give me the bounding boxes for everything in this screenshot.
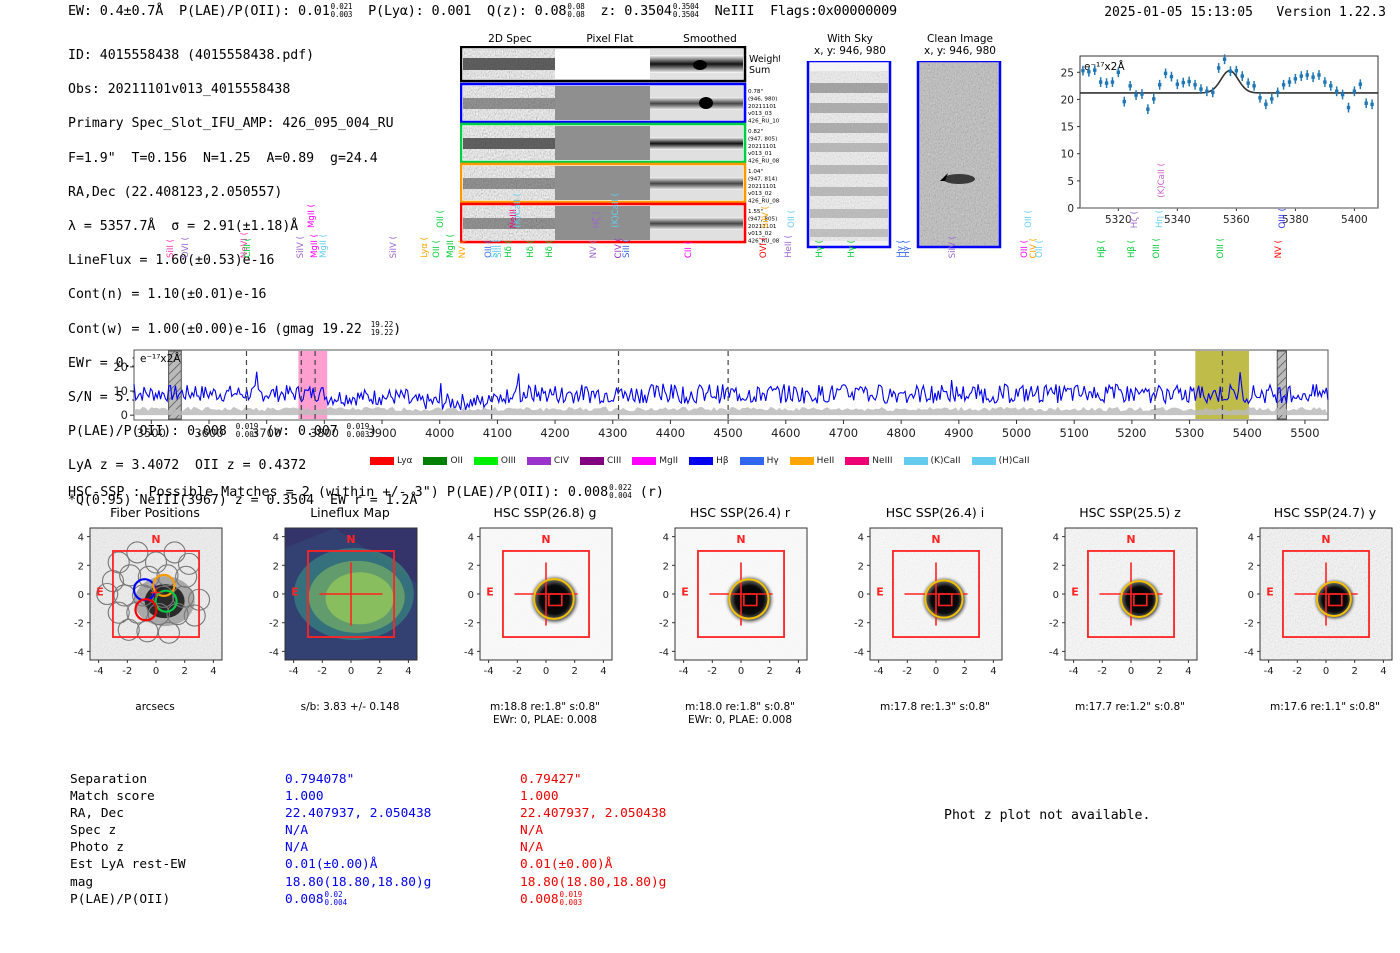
- header-z-frac: 0.35040.3504: [673, 3, 699, 19]
- spec2d-col-title-pixelflat: Pixel Flat: [560, 33, 660, 45]
- zoomspec-xtick: 5320: [1105, 214, 1132, 226]
- compass-east-label: E: [1071, 585, 1079, 598]
- emission-line-label: Hγ (: [815, 240, 825, 258]
- legend-entry: Hβ: [689, 456, 729, 466]
- match-table-cell: 0.794078": [285, 771, 520, 788]
- thumbnail-ytick: -4: [1049, 647, 1059, 658]
- header-flags: Flags:0x00000009: [770, 3, 897, 19]
- spectrum-xtick: 4200: [540, 426, 569, 440]
- thumbnail-xtick: 4: [405, 666, 411, 677]
- thumbnail-ytick: 4: [1248, 533, 1254, 544]
- thumbnail-image[interactable]: NE-4-4-2-2002244: [60, 522, 250, 697]
- header-line-id: NeIII: [715, 3, 755, 19]
- thumbnail-panel[interactable]: HSC SSP(25.5) zNE-4-4-2-2002244m:17.7 re…: [1035, 505, 1225, 720]
- thumbnail-xtick: 2: [1157, 666, 1163, 677]
- compass-north-label: N: [1126, 533, 1135, 546]
- thumbnail-xtick: 4: [210, 666, 216, 677]
- match-table-cell: N/A: [520, 822, 755, 839]
- thumbnail-ytick: 0: [858, 590, 864, 601]
- header-timestamp-version: 2025-01-05 15:13:05 Version 1.22.3: [1104, 5, 1386, 20]
- thumbnail-ytick: 2: [468, 561, 474, 572]
- match-table-row-label: mag: [70, 874, 285, 891]
- thumbnail-image[interactable]: NE-4-4-2-2002244: [1035, 522, 1225, 697]
- thumbnail-xtick: 0: [1128, 666, 1134, 677]
- emission-line-label: CIII (: [243, 238, 253, 258]
- match-table-plae-frac: 0.0190.003: [560, 891, 583, 907]
- compass-east-label: E: [96, 585, 104, 598]
- thumbnail-xtick: -4: [679, 666, 689, 677]
- thumbnail-caption-primary: m:17.7 re:1.2" s:0.8": [1035, 701, 1225, 713]
- emission-line-label: OII (: [1024, 210, 1034, 228]
- emission-line-label: OII (: [432, 240, 442, 258]
- emission-line-label: OVI (: [181, 237, 191, 258]
- emission-line-label: MgII (: [319, 234, 329, 258]
- spec2d-row-right-label: 0.78": [748, 89, 763, 95]
- legend-label: Lyα: [397, 456, 412, 466]
- spec2d-row-right-label: v013_02: [748, 191, 772, 197]
- legend-swatch: [580, 457, 604, 465]
- emission-line-label: Hγ (: [902, 240, 912, 258]
- table-row: P(LAE)/P(OII)0.0080.020.0040.0080.0190.0…: [70, 891, 755, 908]
- thumbnail-ytick: 0: [273, 590, 279, 601]
- thumbnail-xtick: 2: [182, 666, 188, 677]
- match-table-cell: 1.000: [285, 788, 520, 805]
- emission-line-label: (K)CaII (: [611, 193, 621, 228]
- spectrum-xtick: 4800: [887, 426, 916, 440]
- clean-image-title: Clean Image: [910, 33, 1010, 45]
- spec2d-row-right-label: (947, 814): [748, 176, 777, 182]
- header-plya-value: 0.001: [432, 3, 472, 19]
- header-timestamp: 2025-01-05 15:13:05: [1104, 5, 1253, 20]
- compass-north-label: N: [1321, 533, 1330, 546]
- emission-line-label: NV (: [458, 240, 468, 258]
- thumbnail-ytick: 0: [1053, 590, 1059, 601]
- emission-line-label: SiIV (: [296, 236, 306, 258]
- thumbnail-xtick: -4: [874, 666, 884, 677]
- legend-entry: HeII: [790, 456, 835, 466]
- match-table-cell: 1.000: [520, 788, 755, 805]
- thumbnail-ytick: -4: [74, 647, 84, 658]
- thumbnail-xtick: 2: [962, 666, 968, 677]
- legend-swatch: [689, 457, 713, 465]
- match-table-cell: N/A: [520, 839, 755, 856]
- thumbnail-caption-primary: m:18.0 re:1.8" s:0.8": [645, 701, 835, 713]
- header-summary-line: EW: 0.4±0.7Å P(LAE)/P(OII): 0.010.0210.0…: [68, 3, 897, 19]
- match-table-cell: 18.80(18.80,18.80)g: [285, 874, 520, 891]
- legend-label: (K)CaII: [931, 456, 961, 466]
- emission-line-label: Hδ (: [545, 240, 555, 258]
- thumbnail-title: HSC SSP(26.4) i: [840, 505, 1030, 520]
- thumbnail-xtick: -2: [122, 666, 132, 677]
- table-row: Est LyA rest-EW0.01(±0.00)Å0.01(±0.00)Å: [70, 856, 755, 873]
- compass-east-label: E: [486, 585, 494, 598]
- thumbnail-caption-secondary: EWr: 0, PLAE: 0.008: [645, 714, 835, 726]
- legend-swatch: [904, 457, 928, 465]
- legend-label: Hγ: [767, 456, 779, 466]
- emission-line-label: OII (: [436, 210, 446, 228]
- emission-line-label: OVI (: [759, 237, 769, 258]
- emission-line-label: SiIV (: [948, 236, 958, 258]
- thumbnail-caption-secondary: EWr: 0, PLAE: 0.008: [450, 714, 640, 726]
- legend-swatch: [790, 457, 814, 465]
- legend-label: OII: [450, 456, 462, 466]
- thumbnail-caption-primary: m:17.8 re:1.3" s:0.8": [840, 701, 1030, 713]
- legend-swatch: [527, 457, 551, 465]
- spectrum-xtick: 4600: [771, 426, 800, 440]
- compass-east-label: E: [291, 585, 299, 598]
- spectrum-ytick: 20: [113, 360, 128, 374]
- hsc-ssp-match-line: HSC-SSP : Possible Matches = 2 (within +…: [68, 484, 664, 500]
- table-row: RA, Dec22.407937, 2.05043822.407937, 2.0…: [70, 805, 755, 822]
- svg-text:Weighted: Weighted: [749, 54, 780, 65]
- emission-line-label: (K)CaII (: [513, 193, 523, 228]
- legend-label: NeIII: [872, 456, 892, 466]
- photoz-note: Phot z plot not available.: [944, 808, 1150, 823]
- thumbnail-ytick: 4: [858, 533, 864, 544]
- emission-line-label: Hγ (: [847, 240, 857, 258]
- emission-line-label: HeII (: [784, 235, 794, 258]
- emission-line-label: SiII (: [494, 239, 504, 258]
- header-ew-label: EW:: [68, 3, 92, 19]
- thumbnail-image[interactable]: NE-4-4-2-2002244: [645, 522, 835, 697]
- emission-line-label: OIII (: [1216, 238, 1226, 258]
- thumbnail-image[interactable]: NE-4-4-2-2002244: [450, 522, 640, 697]
- match-table-row-label: Photo z: [70, 839, 285, 856]
- cutout-images: [800, 61, 1020, 251]
- legend-entry: CIII: [580, 456, 621, 466]
- header-qz-value: 0.08: [535, 3, 567, 19]
- match-table-row-label: RA, Dec: [70, 805, 285, 822]
- thumbnail-image[interactable]: NE-4-4-2-2002244: [840, 522, 1030, 697]
- legend-swatch: [740, 457, 764, 465]
- spectrum-xtick: 5100: [1060, 426, 1089, 440]
- thumbnail-ytick: 2: [273, 561, 279, 572]
- thumbnail-xtick: -2: [317, 666, 327, 677]
- compass-north-label: N: [736, 533, 745, 546]
- spec2d-row-right-label: 426_RU_087: [748, 159, 780, 165]
- full-spectrum-chart: 01020e⁻¹⁷x2Å3500360037003800390040004100…: [60, 262, 1340, 442]
- legend-entry: NeIII: [845, 456, 892, 466]
- emission-line-label: Hη (: [1155, 210, 1165, 228]
- thumbnail-ytick: 2: [858, 561, 864, 572]
- spectrum-xtick: 4300: [598, 426, 627, 440]
- legend-label: CIII: [607, 456, 621, 466]
- emission-line-label: Lyα (: [420, 237, 430, 258]
- spectrum-xtick: 3800: [310, 426, 339, 440]
- thumbnail-xtick: 0: [933, 666, 939, 677]
- line-zoom-spectrum-chart: e⁻¹⁷x2Å051015202553205340536053805400: [1036, 48, 1386, 248]
- spec2d-row-right-label: 20211101: [748, 184, 777, 190]
- thumbnail-xtick: 4: [600, 666, 606, 677]
- thumbnail-xtick: -2: [512, 666, 522, 677]
- legend-entry: MgII: [632, 456, 678, 466]
- emission-line-label: SiIV (: [389, 236, 399, 258]
- compass-east-label: E: [876, 585, 884, 598]
- thumbnail-xtick: 2: [767, 666, 773, 677]
- emission-line-label: SiII (: [622, 239, 632, 258]
- spec2d-row-right-label: v013_01: [748, 151, 772, 157]
- emission-line-label: MgII (: [446, 234, 456, 258]
- table-row: Separation0.794078"0.79427": [70, 771, 755, 788]
- compass-north-label: N: [346, 533, 355, 546]
- match-table-cell: 0.0080.0190.003: [520, 891, 755, 908]
- thumbnail-ytick: 2: [78, 561, 84, 572]
- thumbnail-xtick: 4: [990, 666, 996, 677]
- thumbnail-ytick: 2: [1248, 561, 1254, 572]
- emission-line-label: Hδ (: [526, 240, 536, 258]
- header-plae-value: 0.01: [298, 3, 330, 19]
- header-z-label: z:: [600, 3, 616, 19]
- spectrum-xtick: 3600: [194, 426, 223, 440]
- legend-label: Hβ: [716, 456, 729, 466]
- header-plya-label: P(Lyα):: [368, 3, 424, 19]
- thumbnail-xtick: -4: [484, 666, 494, 677]
- emission-line-label: NV (: [1274, 240, 1284, 258]
- match-table-cell: 0.01(±0.00)Å: [520, 856, 755, 873]
- thumbnail-panel[interactable]: HSC SSP(26.4) rNE-4-4-2-2002244m:18.0 re…: [645, 505, 835, 720]
- match-table-row-label: Est LyA rest-EW: [70, 856, 285, 873]
- legend-entry: (K)CaII: [904, 456, 961, 466]
- emission-line-label: Hζ (: [592, 211, 602, 228]
- emission-line-label: Hβ (: [1127, 240, 1137, 258]
- spectrum-xtick: 5300: [1175, 426, 1204, 440]
- emission-line-label: Hζ (: [1130, 211, 1140, 228]
- thumbnail-xtick: 4: [1380, 666, 1386, 677]
- with-sky-title: With Sky: [800, 33, 900, 45]
- spectrum-xtick: 3700: [252, 426, 281, 440]
- legend-swatch: [845, 457, 869, 465]
- thumbnail-ytick: -2: [1244, 619, 1254, 630]
- thumbnail-ytick: 0: [468, 590, 474, 601]
- match-table-row-label: Separation: [70, 771, 285, 788]
- full-spectrum-panel: SiII (OVI (NeVI (CIII (SiIV (MgII (MgII …: [60, 262, 1340, 467]
- header-z-value: 0.3504: [624, 3, 672, 19]
- thumbnail-title: HSC SSP(26.4) r: [645, 505, 835, 520]
- match-table-cell: 22.407937, 2.050438: [285, 805, 520, 822]
- thumbnail-panel[interactable]: Lineflux MapNE-4-4-2-2002244s/b: 3.83 +/…: [255, 505, 445, 720]
- match-table-cell: 0.79427": [520, 771, 755, 788]
- zoomspec-xtick: 5340: [1164, 214, 1191, 226]
- header-qz-frac: 0.080.08: [567, 3, 584, 19]
- svg-text:e⁻¹⁷x2Å: e⁻¹⁷x2Å: [140, 352, 181, 365]
- zoomspec-xtick: 5400: [1341, 214, 1368, 226]
- thumbnail-xtick: 4: [795, 666, 801, 677]
- legend-entry: OIII: [474, 456, 516, 466]
- match-table-row-label: P(LAE)/P(OII): [70, 891, 285, 908]
- emission-line-label: MgII (: [307, 204, 317, 228]
- thumbnail-ytick: -2: [659, 619, 669, 630]
- info-obs: Obs: 20211101v013_4015558438: [68, 81, 417, 98]
- hsc-ssp-prefix: HSC-SSP : Possible Matches = 2 (within +…: [68, 485, 608, 500]
- thumbnail-ytick: 4: [273, 533, 279, 544]
- info-fwhm-throughput: F=1.9" T=0.156 N=1.25 A=0.89 g=24.4: [68, 150, 417, 167]
- spec2d-row-right-label: 20211101: [748, 104, 777, 110]
- thumbnail-caption-primary: m:17.6 re:1.1" s:0.8": [1230, 701, 1400, 713]
- thumbnail-ytick: 0: [1248, 590, 1254, 601]
- thumbnail-image[interactable]: NE-4-4-2-2002244: [1230, 522, 1400, 697]
- thumbnail-caption-primary: s/b: 3.83 +/- 0.148: [255, 701, 445, 713]
- spec2d-col-title-smoothed: Smoothed: [660, 33, 760, 45]
- match-table-row-label: Spec z: [70, 822, 285, 839]
- header-plae-label: P(LAE)/P(OII):: [179, 3, 290, 19]
- thumbnail-panel[interactable]: HSC SSP(24.7) yNE-4-4-2-2002244m:17.6 re…: [1230, 505, 1400, 720]
- spec2d-col-title-2dspec: 2D Spec: [460, 33, 560, 45]
- thumbnail-ytick: -2: [1049, 619, 1059, 630]
- thumbnail-caption-primary: m:18.8 re:1.8" s:0.8": [450, 701, 640, 713]
- zoomspec-ytick: 5: [1067, 176, 1074, 188]
- thumbnail-ytick: 0: [78, 590, 84, 601]
- thumbnail-xtick: 2: [1352, 666, 1358, 677]
- legend-label: HeII: [817, 456, 835, 466]
- table-row: Match score1.0001.000: [70, 788, 755, 805]
- spec2d-row-right-label: (947, 805): [748, 136, 777, 142]
- thumbnail-xtick: -4: [94, 666, 104, 677]
- zoomspec-ytick: 15: [1061, 122, 1074, 134]
- spectrum-xtick: 5200: [1117, 426, 1146, 440]
- spectrum-xtick: 4100: [483, 426, 512, 440]
- thumbnail-xtick: -2: [707, 666, 717, 677]
- spectrum-xtick: 4000: [425, 426, 454, 440]
- thumbnail-ytick: 2: [663, 561, 669, 572]
- thumbnail-xtick: -4: [1069, 666, 1079, 677]
- thumbnail-xtick: 0: [348, 666, 354, 677]
- thumbnail-xtick: 0: [543, 666, 549, 677]
- emission-line-label: OIII (: [1152, 238, 1162, 258]
- info-primary-spec-slot: Primary Spec_Slot_IFU_AMP: 426_095_004_R…: [68, 115, 417, 132]
- thumbnail-xtick: -4: [289, 666, 299, 677]
- emission-line-label: Hδ (: [504, 240, 514, 258]
- spec2d-row-right-label: 20211101: [748, 144, 777, 150]
- legend-entry: CIV: [527, 456, 569, 466]
- spectrum-xtick: 3500: [137, 426, 166, 440]
- thumbnail-panel[interactable]: HSC SSP(26.4) iNE-4-4-2-2002244m:17.8 re…: [840, 505, 1030, 720]
- legend-entry: Hγ: [740, 456, 779, 466]
- spectrum-xtick: 5500: [1290, 426, 1319, 440]
- spec2d-row-right-label: v013_03: [748, 111, 772, 117]
- legend-label: (H)CaII: [999, 456, 1030, 466]
- thumbnail-xtick: 2: [377, 666, 383, 677]
- spectrum-xtick: 4400: [656, 426, 685, 440]
- zoomspec-ytick: 25: [1061, 67, 1074, 79]
- spectrum-ytick: 10: [113, 384, 128, 398]
- zoomspec-ytick: 0: [1067, 203, 1074, 215]
- thumbnail-ytick: -4: [854, 647, 864, 658]
- thumbnail-ytick: -4: [659, 647, 669, 658]
- thumbnail-row: Fiber PositionsNE-4-4-2-2002244arcsecsLi…: [50, 505, 1395, 720]
- thumbnail-caption-primary: arcsecs: [60, 701, 250, 713]
- thumbnail-ytick: 2: [1053, 561, 1059, 572]
- compass-north-label: N: [931, 533, 940, 546]
- match-table-cell: 0.0080.020.004: [285, 891, 520, 908]
- clean-image-coords: x, y: 946, 980: [910, 45, 1010, 57]
- match-table-plae-frac: 0.020.004: [325, 891, 348, 907]
- cutout-group: With Sky x, y: 946, 980 Clean Image x, y…: [800, 33, 1020, 248]
- thumbnail-ytick: -2: [74, 619, 84, 630]
- legend-swatch: [423, 457, 447, 465]
- emission-line-label: SiII (: [166, 239, 176, 258]
- zoomspec-ytick: 10: [1061, 149, 1074, 161]
- spectrum-ytick: 0: [121, 408, 128, 422]
- svg-text:Sum: Sum: [749, 65, 770, 76]
- zoomspec-xtick: 5360: [1223, 214, 1250, 226]
- spectrum-xtick: 5000: [1002, 426, 1031, 440]
- thumbnail-panel[interactable]: HSC SSP(26.8) gNE-4-4-2-2002244m:18.8 re…: [450, 505, 640, 720]
- thumbnail-xtick: 0: [153, 666, 159, 677]
- thumbnail-title: HSC SSP(26.8) g: [450, 505, 640, 520]
- emission-line-label: OII (: [787, 210, 797, 228]
- spec2d-row-right-label: (946, 980): [748, 96, 777, 102]
- match-table-cell: N/A: [285, 822, 520, 839]
- match-table-cell: 22.407937, 2.050438: [520, 805, 755, 822]
- legend-swatch: [632, 457, 656, 465]
- thumbnail-image[interactable]: NE-4-4-2-2002244: [255, 522, 445, 697]
- thumbnail-ytick: -4: [464, 647, 474, 658]
- spectrum-xtick: 4900: [944, 426, 973, 440]
- compass-north-label: N: [151, 533, 160, 546]
- thumbnail-ytick: 4: [78, 533, 84, 544]
- thumbnail-xtick: -2: [902, 666, 912, 677]
- thumbnail-panel[interactable]: Fiber PositionsNE-4-4-2-2002244arcsecs: [60, 505, 250, 720]
- emission-line-legend: LyαOIIOIIICIVCIIIMgIIHβHγHeIINeIII(K)CaI…: [370, 448, 1040, 467]
- emission-line-label: CII (: [684, 241, 694, 258]
- thumbnail-xtick: 4: [1185, 666, 1191, 677]
- emission-line-label: OII (: [1035, 240, 1045, 258]
- thumbnail-xtick: 0: [1323, 666, 1329, 677]
- thumbnail-ytick: -4: [269, 647, 279, 658]
- thumbnail-xtick: -2: [1292, 666, 1302, 677]
- match-table-cell: N/A: [285, 839, 520, 856]
- hsc-ssp-suffix: (r): [640, 485, 664, 500]
- legend-swatch: [370, 457, 394, 465]
- thumbnail-title: HSC SSP(25.5) z: [1035, 505, 1225, 520]
- thumbnail-ytick: 4: [1053, 533, 1059, 544]
- match-table-cell: 18.80(18.80,18.80)g: [520, 874, 755, 891]
- header-ew-value: 0.4±0.7Å: [100, 3, 163, 19]
- legend-swatch: [972, 457, 996, 465]
- match-table-row-label: Match score: [70, 788, 285, 805]
- header-version: Version 1.22.3: [1276, 5, 1386, 20]
- spectrum-xtick: 4500: [713, 426, 742, 440]
- table-row: Spec zN/AN/A: [70, 822, 755, 839]
- legend-label: OIII: [501, 456, 516, 466]
- with-sky-coords: x, y: 946, 980: [800, 45, 900, 57]
- header-plae-frac: 0.0210.003: [331, 3, 353, 19]
- legend-swatch: [474, 457, 498, 465]
- spectrum-xtick: 5400: [1233, 426, 1262, 440]
- thumbnail-title: HSC SSP(24.7) y: [1230, 505, 1400, 520]
- zoomspec-ytick: 20: [1061, 94, 1074, 106]
- thumbnail-title: Lineflux Map: [255, 505, 445, 520]
- table-row: Photo zN/AN/A: [70, 839, 755, 856]
- spec2d-row-right-label: 426_RU_107: [748, 119, 780, 125]
- spectrum-xtick: 4700: [829, 426, 858, 440]
- compass-east-label: E: [1266, 585, 1274, 598]
- spec2d-row-right-label: 0.82": [748, 129, 763, 135]
- legend-entry: Lyα: [370, 456, 412, 466]
- thumbnail-ytick: 4: [468, 533, 474, 544]
- info-id: ID: 4015558438 (4015558438.pdf): [68, 47, 417, 64]
- legend-entry: (H)CaII: [972, 456, 1030, 466]
- thumbnail-ytick: -2: [269, 619, 279, 630]
- header-qz-label: Q(z):: [487, 3, 527, 19]
- match-table-cell: 0.01(±0.00)Å: [285, 856, 520, 873]
- thumbnail-xtick: -2: [1097, 666, 1107, 677]
- thumbnail-title: Fiber Positions: [60, 505, 250, 520]
- spectrum-xtick: 3900: [367, 426, 396, 440]
- hsc-ssp-plae-frac: 0.0220.004: [609, 484, 632, 500]
- emission-line-label: SiIV (: [761, 206, 771, 228]
- info-radec: RA,Dec (22.408123,2.050557): [68, 184, 417, 201]
